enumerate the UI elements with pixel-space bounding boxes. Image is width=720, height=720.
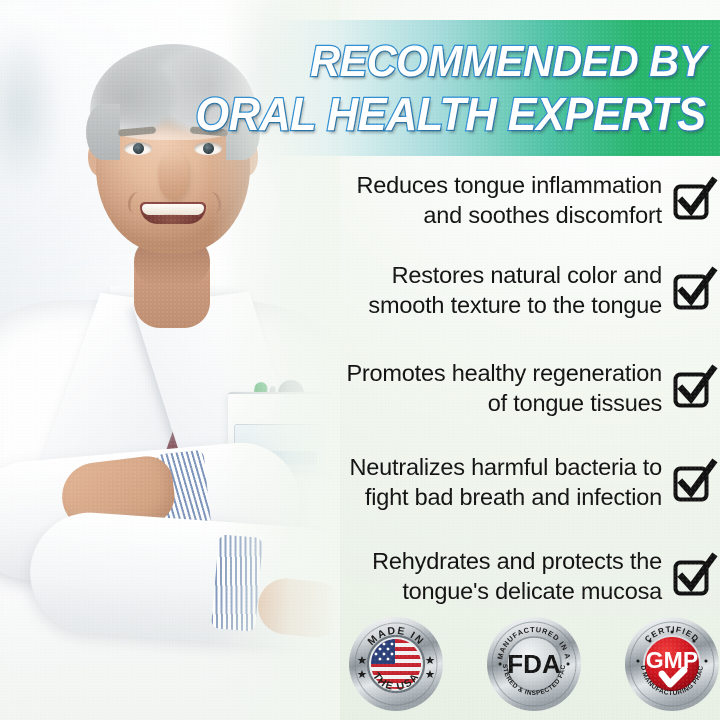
checkbox-checked-icon	[672, 269, 714, 311]
checkbox-checked-icon	[672, 555, 714, 597]
benefit-line-2: and soothes discomfort	[423, 202, 662, 228]
benefit-line-2: of tongue tissues	[488, 390, 662, 416]
trust-badges-row: MADE IN THE USA	[348, 612, 720, 716]
benefit-text: Rehydrates and protects the tongue's del…	[372, 546, 662, 606]
benefit-text: Neutralizes harmful bacteria to fight ba…	[350, 452, 663, 512]
benefit-line-1: Rehydrates and protects the	[372, 548, 662, 574]
benefit-line-2: smooth texture to the tongue	[368, 292, 662, 318]
benefit-line-1: Reduces tongue inflammation	[356, 172, 662, 198]
checkbox-checked-icon	[672, 179, 714, 221]
badge-center-text: FDA	[507, 649, 561, 679]
benefit-line-1: Restores natural color and	[392, 262, 662, 288]
benefit-text: Promotes healthy regeneration of tongue …	[346, 358, 662, 418]
benefit-text: Restores natural color and smooth textur…	[368, 260, 662, 320]
page-title: RECOMMENDED BY ORAL HEALTH EXPERTS	[262, 22, 720, 154]
benefit-item: Reduces tongue inflammation and soothes …	[356, 170, 714, 230]
badge-center-text: GMP	[646, 647, 698, 673]
benefit-text: Reduces tongue inflammation and soothes …	[356, 170, 662, 230]
photo-bottom-fade	[0, 600, 340, 720]
benefits-list: Reduces tongue inflammation and soothes …	[300, 168, 720, 588]
benefit-line-2: fight bad breath and infection	[365, 484, 662, 510]
promo-poster: RECOMMENDED BY ORAL HEALTH EXPERTS Reduc…	[0, 0, 720, 720]
gmp-badge-icon: GMP CERTIFIED GOOD MANUFACTURING PRACTIC…	[624, 616, 720, 712]
benefit-item: Rehydrates and protects the tongue's del…	[372, 546, 714, 606]
benefit-item: Promotes healthy regeneration of tongue …	[346, 358, 714, 418]
benefit-item: Neutralizes harmful bacteria to fight ba…	[350, 452, 715, 512]
headline-line-1: RECOMMENDED BY	[310, 36, 706, 88]
checkbox-checked-icon	[672, 461, 714, 503]
made-in-usa-badge-icon: MADE IN THE USA	[348, 616, 444, 712]
benefit-line-1: Promotes healthy regeneration	[346, 360, 662, 386]
benefit-item: Restores natural color and smooth textur…	[368, 260, 714, 320]
headline-line-2: ORAL HEALTH EXPERTS	[196, 88, 706, 140]
fda-badge-icon: FDA MANUFACTURED IN A REGISTERED & INSPE…	[486, 616, 582, 712]
benefit-line-2: tongue's delicate mucosa	[402, 578, 662, 604]
benefit-line-1: Neutralizes harmful bacteria to	[350, 454, 663, 480]
checkbox-checked-icon	[672, 367, 714, 409]
